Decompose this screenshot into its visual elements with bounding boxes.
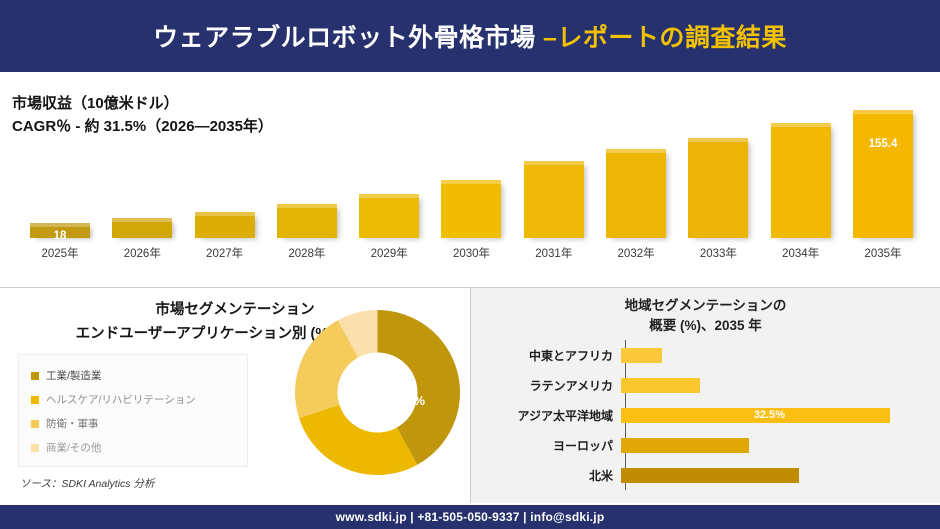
x-axis-tick: 2035年	[847, 245, 919, 261]
x-axis-tick: 2032年	[600, 245, 672, 261]
bar-top-highlight	[606, 149, 666, 153]
donut-chart: 42%	[295, 310, 460, 475]
revenue-bar-chart: 18155.4 2025年2026年2027年2028年2029年2030年20…	[24, 94, 919, 264]
legend-swatch-icon	[31, 444, 39, 452]
bar-item	[688, 138, 748, 238]
regional-bar-row: ヨーロッパ	[493, 430, 923, 460]
regional-bar-track	[621, 370, 923, 400]
regional-title-line1: 地域セグメンテーションの	[625, 298, 787, 313]
bar-top-highlight	[688, 138, 748, 142]
regional-bar-track	[621, 430, 923, 460]
bar-x-axis: 2025年2026年2027年2028年2029年2030年2031年2032年…	[24, 242, 919, 264]
bar-column	[353, 98, 425, 238]
regional-bar-value: 32.5%	[754, 409, 785, 421]
page-header: ウェアラブルロボット外骨格市場 –レポートの調査結果	[0, 0, 940, 72]
bar-top-highlight	[771, 123, 831, 127]
x-axis-tick: 2027年	[189, 245, 261, 261]
x-axis-tick: 2026年	[106, 245, 178, 261]
donut-svg	[295, 310, 460, 475]
bar-column	[600, 98, 672, 238]
source-note: ソース：SDKI Analytics 分析	[20, 476, 154, 491]
bar-column	[435, 98, 507, 238]
x-axis-tick: 2030年	[435, 245, 507, 261]
regional-bar-track	[621, 460, 923, 490]
legend-item: 商業/その他	[31, 440, 237, 455]
regional-bar-label: ヨーロッパ	[493, 437, 621, 454]
legend-label: ヘルスケア/リハビリテーション	[46, 392, 196, 407]
bar-column	[518, 98, 590, 238]
bar-column: 155.4	[847, 98, 919, 238]
bar-value-label: 18	[30, 230, 90, 242]
x-axis-tick: 2029年	[353, 245, 425, 261]
regional-bar-row: 北米	[493, 460, 923, 490]
regional-panel: 地域セグメンテーションの 概要 (%)、2035 年 中東とアフリカラテンアメリ…	[471, 288, 940, 503]
legend-label: 防衛・軍事	[46, 416, 99, 431]
bar-column: 18	[24, 98, 96, 238]
page-footer: www.sdki.jp | +81-505-050-9337 | info@sd…	[0, 505, 940, 529]
footer-contact: www.sdki.jp | +81-505-050-9337 | info@sd…	[336, 510, 605, 524]
regional-bar-item	[621, 378, 700, 393]
regional-bar-item: 32.5%	[621, 408, 890, 423]
regional-bar-track	[621, 340, 923, 370]
bar-top-highlight	[112, 218, 172, 222]
donut-primary-value: 42%	[399, 393, 425, 408]
bar-column	[106, 98, 178, 238]
bar-top-highlight	[277, 204, 337, 208]
bar-item	[195, 212, 255, 238]
regional-bar-chart: 中東とアフリカラテンアメリカアジア太平洋地域32.5%ヨーロッパ北米	[493, 340, 923, 490]
regional-bar-item	[621, 438, 749, 453]
page-title-main: ウェアラブルロボット外骨格市場	[153, 24, 543, 52]
x-axis-tick: 2033年	[682, 245, 754, 261]
legend-swatch-icon	[31, 396, 39, 404]
legend-label: 商業/その他	[46, 440, 101, 455]
x-axis-tick: 2025年	[24, 245, 96, 261]
bar-top-highlight	[441, 180, 501, 184]
bar-item	[359, 194, 419, 238]
x-axis-tick: 2031年	[518, 245, 590, 261]
revenue-chart-panel: 市場収益（10億米ドル） CAGR％ - 約 31.5%（2026―2035年）…	[0, 72, 940, 287]
legend-item: ヘルスケア/リハビリテーション	[31, 392, 237, 407]
regional-bar-label: 中東とアフリカ	[493, 347, 621, 364]
regional-bar-label: 北米	[493, 467, 621, 484]
bar-top-highlight	[359, 194, 419, 198]
regional-bar-item	[621, 468, 799, 483]
legend-swatch-icon	[31, 372, 39, 380]
legend-swatch-icon	[31, 420, 39, 428]
bar-top-highlight	[524, 161, 584, 165]
bar-item	[524, 161, 584, 238]
bar-column	[765, 98, 837, 238]
legend-label: 工業/製造業	[46, 368, 101, 383]
infographic-page: ウェアラブルロボット外骨格市場 –レポートの調査結果 市場収益（10億米ドル） …	[0, 0, 940, 529]
regional-bar-row: アジア太平洋地域32.5%	[493, 400, 923, 430]
segmentation-legend: 工業/製造業ヘルスケア/リハビリテーション防衛・軍事商業/その他	[18, 354, 248, 467]
bar-top-highlight	[853, 110, 913, 114]
x-axis-tick: 2034年	[765, 245, 837, 261]
page-title: ウェアラブルロボット外骨格市場 –レポートの調査結果	[153, 18, 787, 54]
regional-bar-item	[621, 348, 662, 363]
bar-column	[189, 98, 261, 238]
bar-item	[277, 204, 337, 238]
bar-column	[682, 98, 754, 238]
bar-top-highlight	[30, 223, 90, 227]
page-title-accent: –レポートの調査結果	[543, 24, 787, 52]
x-axis-tick: 2028年	[271, 245, 343, 261]
regional-title: 地域セグメンテーションの 概要 (%)、2035 年	[471, 296, 940, 335]
regional-title-line2: 概要 (%)、2035 年	[649, 318, 762, 333]
bar-item	[606, 149, 666, 238]
bar-top-highlight	[195, 212, 255, 216]
bar-item: 155.4	[853, 110, 913, 238]
regional-bar-label: ラテンアメリカ	[493, 377, 621, 394]
regional-bar-label: アジア太平洋地域	[493, 407, 621, 424]
bar-item	[771, 123, 831, 238]
legend-item: 防衛・軍事	[31, 416, 237, 431]
segmentation-panel: 市場セグメンテーション エンドユーザーアプリケーション別 (%)、2035年 工…	[0, 288, 470, 503]
bar-item: 18	[30, 223, 90, 238]
bar-series: 18155.4	[24, 98, 919, 238]
regional-bar-track: 32.5%	[621, 400, 923, 430]
bar-column	[271, 98, 343, 238]
regional-bar-row: 中東とアフリカ	[493, 340, 923, 370]
regional-bar-row: ラテンアメリカ	[493, 370, 923, 400]
bar-item	[441, 180, 501, 238]
bar-value-label: 155.4	[853, 138, 913, 150]
bar-item	[112, 218, 172, 238]
legend-item: 工業/製造業	[31, 368, 237, 383]
